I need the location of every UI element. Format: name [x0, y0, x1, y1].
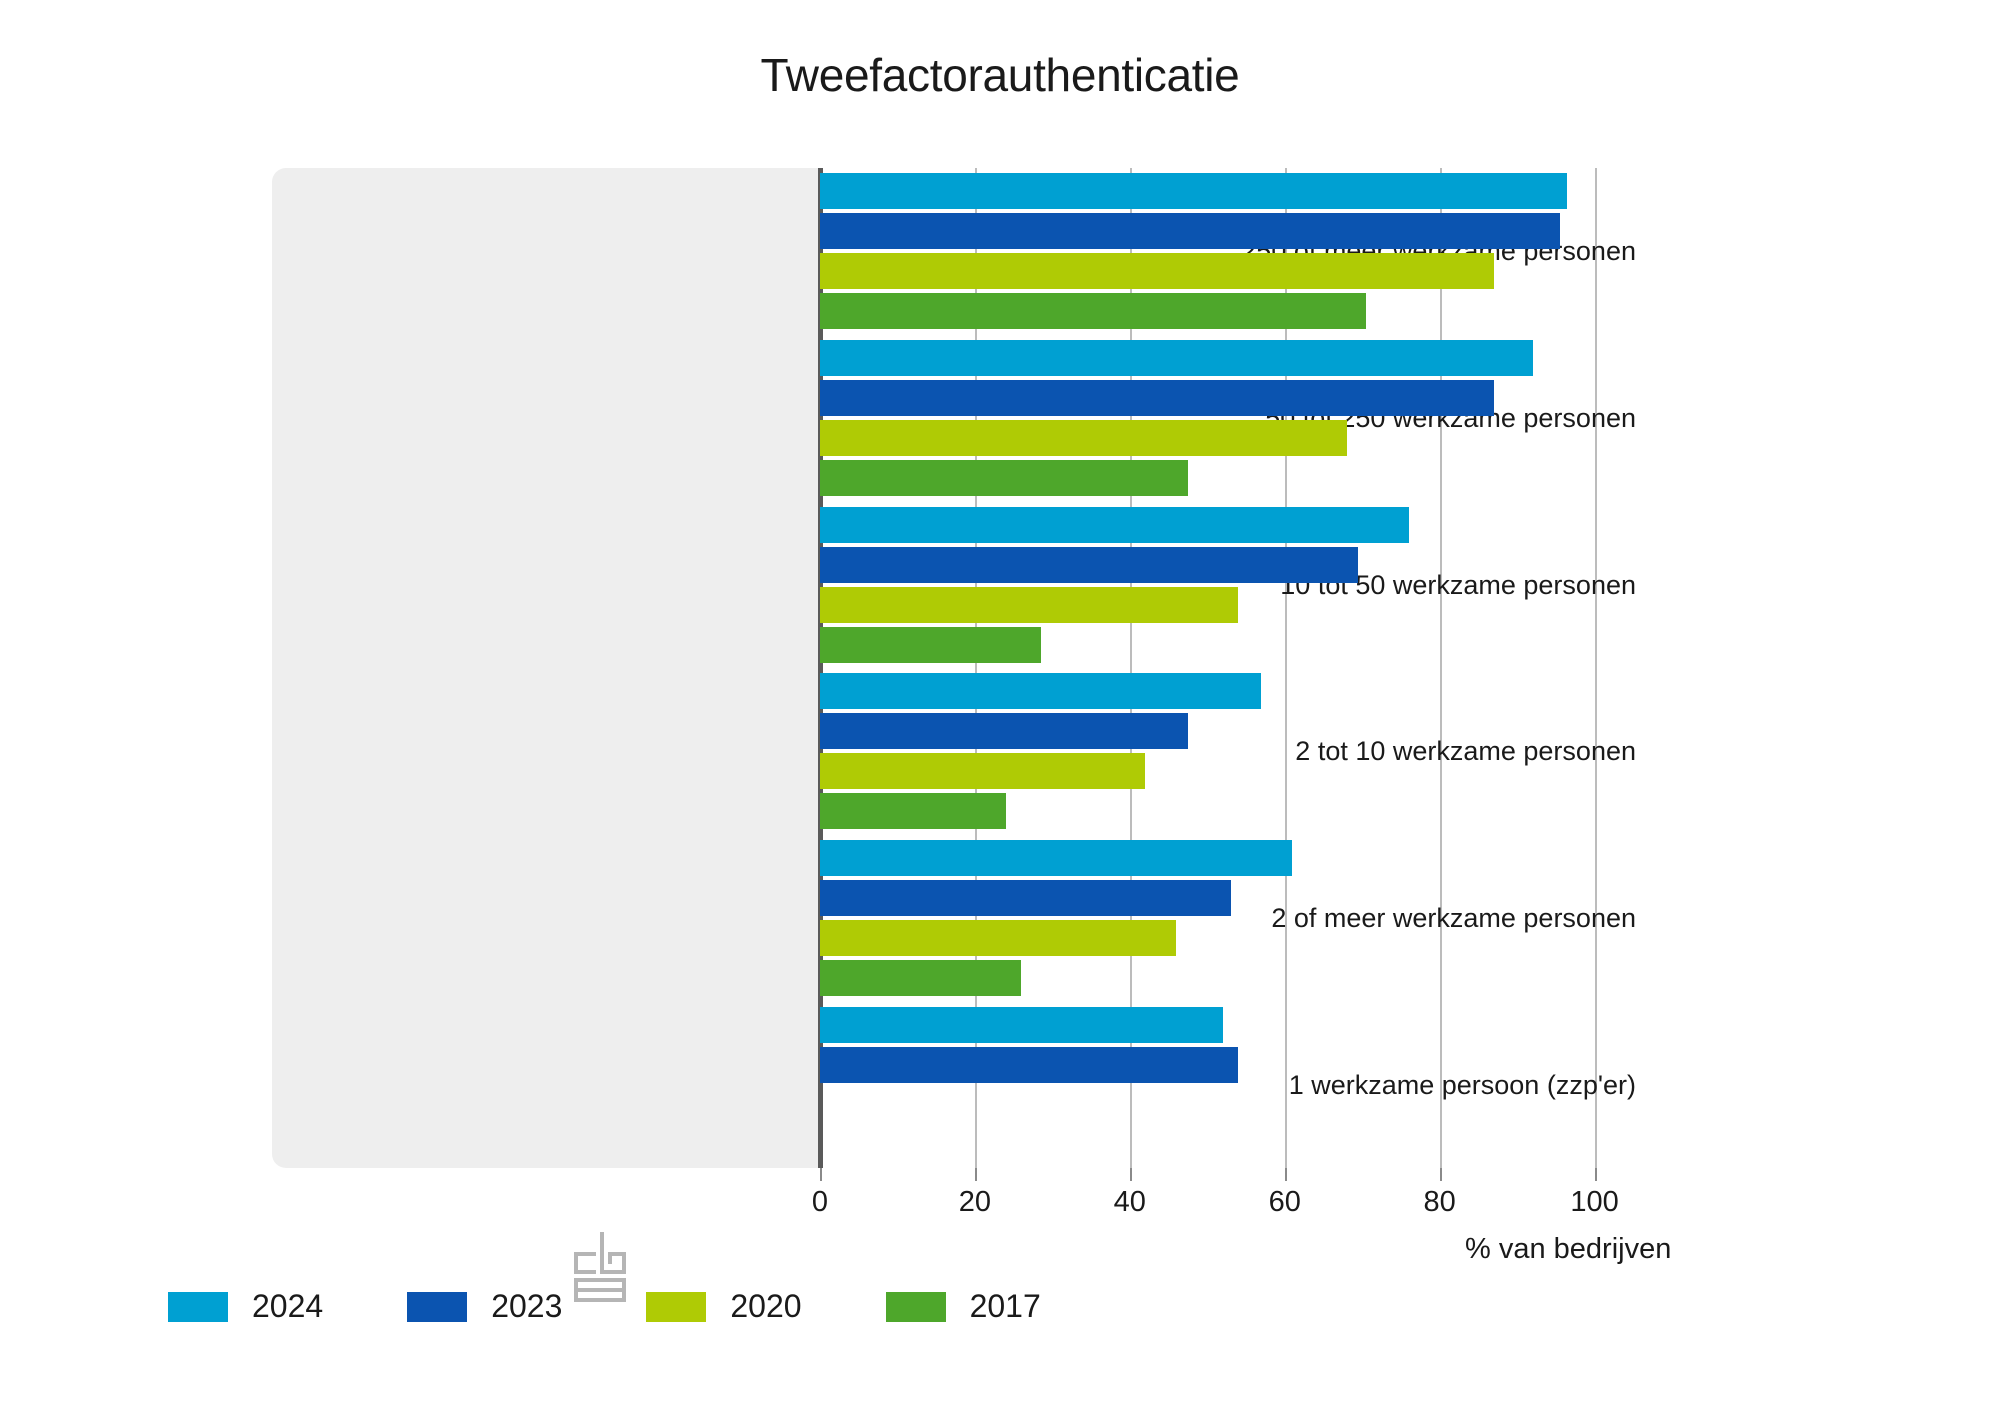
page-title: Tweefactorauthenticatie — [0, 48, 2000, 102]
legend-label: 2023 — [491, 1288, 562, 1325]
bar-row — [820, 713, 1672, 749]
bar-row — [820, 793, 1672, 829]
x-axis-tick — [1595, 1168, 1597, 1181]
bar-2020[interactable] — [820, 253, 1494, 289]
bar-row — [820, 1047, 1672, 1083]
bar-row — [820, 960, 1672, 996]
bar-row — [820, 340, 1672, 376]
bar-2024[interactable] — [820, 173, 1567, 209]
bar-2020[interactable] — [820, 753, 1145, 789]
bar-2024[interactable] — [820, 840, 1292, 876]
bar-2017[interactable] — [820, 460, 1188, 496]
x-axis-tick-label: 0 — [812, 1186, 828, 1219]
legend-item-2024[interactable]: 2024 — [168, 1288, 323, 1325]
legend-swatch — [168, 1292, 228, 1322]
legend-label: 2024 — [252, 1288, 323, 1325]
bar-row — [820, 753, 1672, 789]
x-axis-tick-label: 80 — [1423, 1186, 1455, 1219]
x-axis-tick — [1130, 1168, 1132, 1181]
bar-2024[interactable] — [820, 1007, 1223, 1043]
chart-legend: 2024202320202017 — [168, 1288, 1125, 1325]
bar-2017[interactable] — [820, 627, 1041, 663]
bar-row — [820, 627, 1672, 663]
bar-row — [820, 880, 1672, 916]
bar-2023[interactable] — [820, 547, 1358, 583]
bar-2023[interactable] — [820, 380, 1494, 416]
bar-2023[interactable] — [820, 713, 1188, 749]
bar-row — [820, 507, 1672, 543]
bar-row — [820, 547, 1672, 583]
x-axis-tick-label: 100 — [1570, 1186, 1618, 1219]
bar-row — [820, 673, 1672, 709]
bar-2020[interactable] — [820, 920, 1176, 956]
bar-row — [820, 587, 1672, 623]
x-axis-tick — [975, 1168, 977, 1181]
bar-row — [820, 460, 1672, 496]
bar-group: 2 tot 10 werkzame personen — [272, 673, 1672, 829]
bar-row — [820, 213, 1672, 249]
bar-row — [820, 920, 1672, 956]
bar-2023[interactable] — [820, 880, 1231, 916]
bar-group: 2 of meer werkzame personen — [272, 840, 1672, 996]
x-axis-tick — [1440, 1168, 1442, 1181]
chart-plot-frame: 020406080100250 of meer werkzame persone… — [272, 168, 1672, 1168]
legend-item-2020[interactable]: 2020 — [646, 1288, 801, 1325]
x-axis-tick — [1285, 1168, 1287, 1181]
x-axis-tick — [820, 1168, 822, 1181]
bar-row — [820, 293, 1672, 329]
legend-item-2023[interactable]: 2023 — [407, 1288, 562, 1325]
legend-item-2017[interactable]: 2017 — [886, 1288, 1041, 1325]
legend-swatch — [886, 1292, 946, 1322]
bar-2023[interactable] — [820, 1047, 1238, 1083]
legend-label: 2017 — [970, 1288, 1041, 1325]
x-axis-tick-label: 60 — [1269, 1186, 1301, 1219]
bar-2024[interactable] — [820, 340, 1533, 376]
bar-row — [820, 420, 1672, 456]
bar-row — [820, 840, 1672, 876]
bar-group: 250 of meer werkzame personen — [272, 173, 1672, 329]
bar-2017[interactable] — [820, 960, 1021, 996]
bar-2017[interactable] — [820, 793, 1006, 829]
bar-row — [820, 1007, 1672, 1043]
bar-row — [820, 253, 1672, 289]
x-axis-title: % van bedrijven — [1465, 1233, 1671, 1266]
bar-group: 10 tot 50 werkzame personen — [272, 507, 1672, 663]
bar-group: 50 tot 250 werkzame personen — [272, 340, 1672, 496]
bar-2024[interactable] — [820, 673, 1261, 709]
x-axis-tick-label: 20 — [959, 1186, 991, 1219]
legend-swatch — [407, 1292, 467, 1322]
bar-2023[interactable] — [820, 213, 1560, 249]
bar-2017[interactable] — [820, 293, 1366, 329]
bar-row — [820, 173, 1672, 209]
bar-group: 1 werkzame persoon (zzp'er) — [272, 1007, 1672, 1163]
bar-2020[interactable] — [820, 420, 1347, 456]
legend-swatch — [646, 1292, 706, 1322]
x-axis-tick-label: 40 — [1114, 1186, 1146, 1219]
bar-2020[interactable] — [820, 587, 1238, 623]
bar-2024[interactable] — [820, 507, 1409, 543]
bar-row — [820, 380, 1672, 416]
legend-label: 2020 — [730, 1288, 801, 1325]
